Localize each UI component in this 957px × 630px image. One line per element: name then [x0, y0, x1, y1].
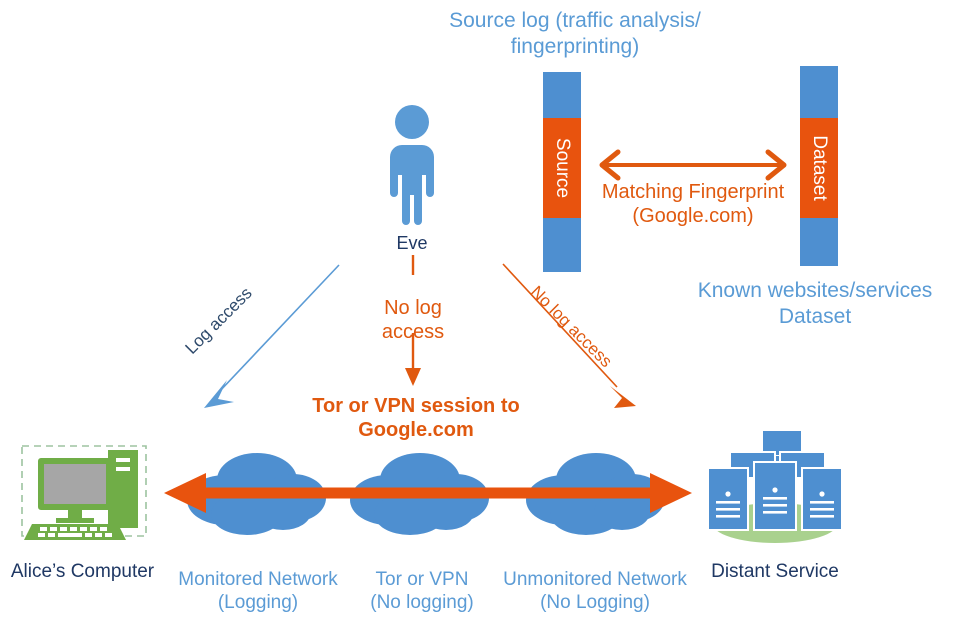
cloud-label-unmonitored: Unmonitored Network (No Logging) — [495, 568, 695, 614]
eve-label: Eve — [372, 233, 452, 255]
no-log-access-center-label: No log access — [355, 296, 471, 345]
source-bar: Source — [543, 72, 581, 272]
session-channel-arrow-icon — [160, 472, 696, 514]
alice-computer-label: Alice’s Computer — [0, 560, 165, 583]
source-log-title: Source log (traffic analysis/ fingerprin… — [400, 8, 750, 59]
dataset-caption: Known websites/services Dataset — [672, 278, 957, 329]
dataset-bar-segment-top — [800, 66, 838, 118]
source-bar-label: Source — [551, 138, 573, 198]
source-bar-segment-top — [543, 72, 581, 118]
matching-fingerprint-arrow-icon — [592, 148, 794, 182]
dataset-bar-segment-highlight: Dataset — [800, 118, 838, 218]
log-access-arrow-icon — [198, 258, 348, 413]
cloud-label-tor-vpn: Tor or VPN (No logging) — [357, 568, 487, 614]
desktop-computer-icon — [20, 440, 148, 545]
session-label: Tor or VPN session to Google.com — [288, 394, 544, 443]
cloud-label-monitored: Monitored Network (Logging) — [165, 568, 351, 614]
dataset-bar-label: Dataset — [808, 135, 830, 200]
person-icon — [378, 105, 446, 225]
dataset-bar: Dataset — [800, 66, 838, 266]
server-stack-icon — [700, 420, 850, 545]
distant-service-label: Distant Service — [700, 560, 850, 583]
dataset-bar-segment-bottom — [800, 218, 838, 266]
matching-fingerprint-label: Matching Fingerprint (Google.com) — [585, 180, 801, 229]
source-bar-segment-highlight: Source — [543, 118, 581, 218]
diagram-canvas: Source log (traffic analysis/ fingerprin… — [0, 0, 957, 630]
